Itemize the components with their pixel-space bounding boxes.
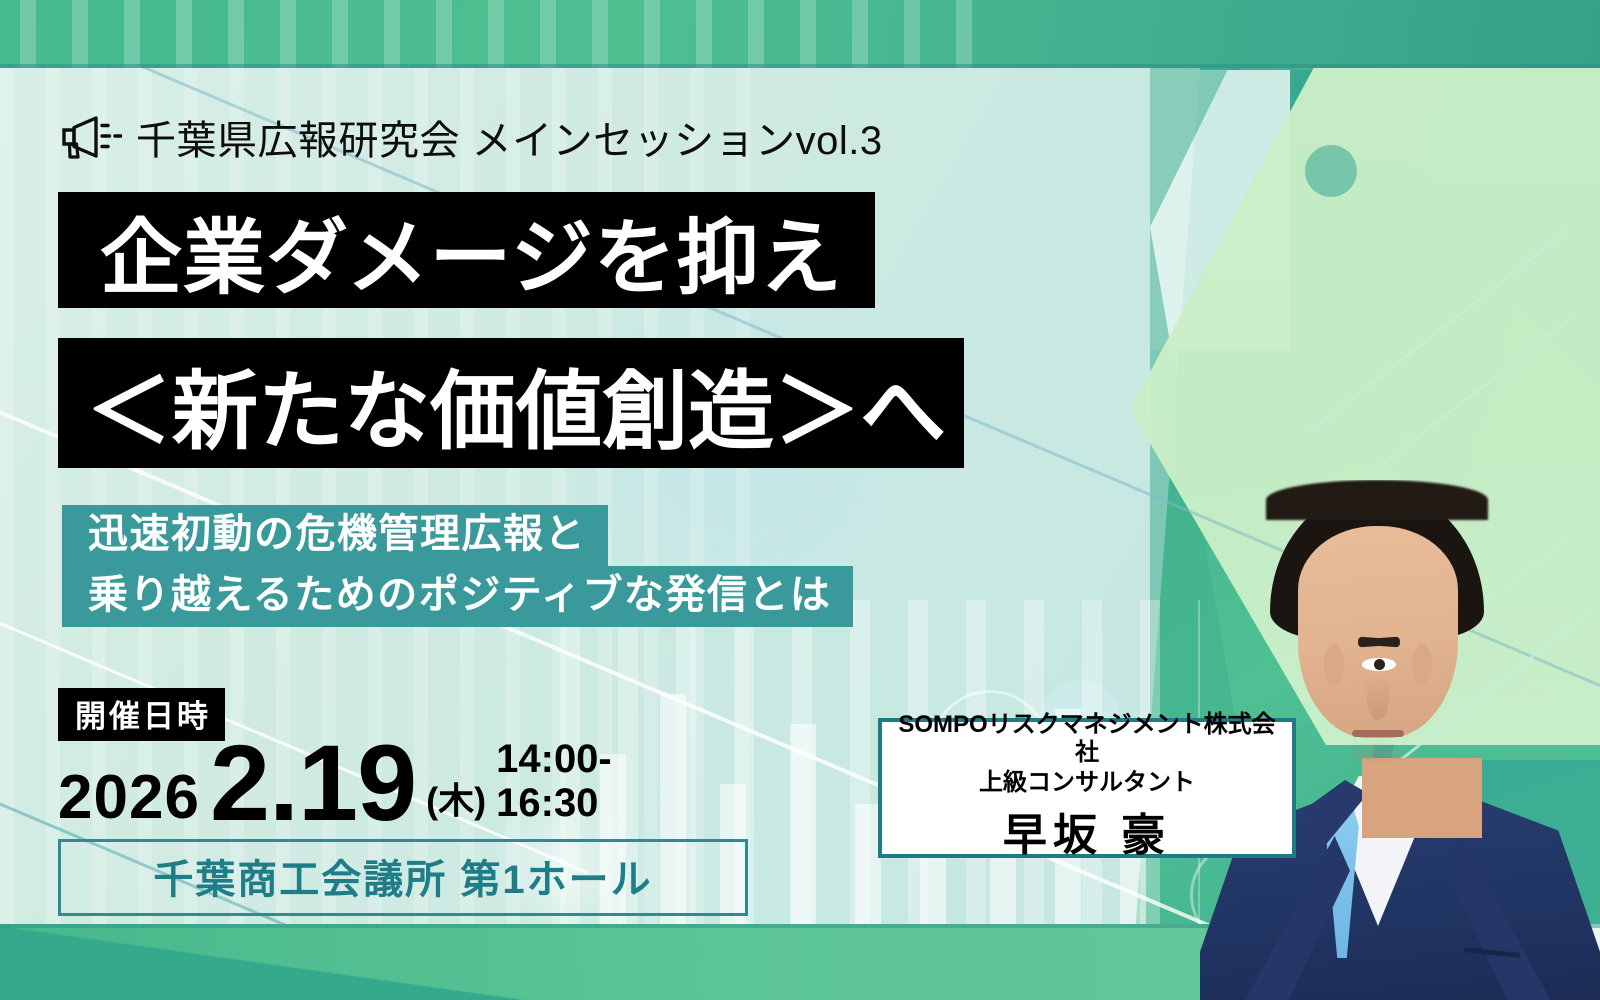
- schedule-time-end: 16:30: [496, 781, 598, 825]
- event-series-text: 千葉県広報研究会 メインセッションvol.3: [136, 108, 883, 166]
- speaker-role: 上級コンサルタント: [979, 768, 1195, 797]
- schedule-year: 2026: [58, 767, 200, 829]
- schedule-block: 開催日時 2026 2.19 (木) 14:00- 16:30 千葉商工会議所 …: [58, 688, 748, 916]
- schedule-day-of-week: (木): [426, 783, 486, 829]
- schedule-time: 14:00- 16:30: [496, 738, 612, 828]
- subtitle-line-2: 乗り越えるためのポジティブな発信とは: [62, 566, 853, 627]
- subtitle-block: 迅速初動の危機管理広報と 乗り越えるためのポジティブな発信とは: [62, 505, 853, 627]
- schedule-time-start: 14:00-: [496, 737, 612, 781]
- megaphone-icon: [60, 114, 122, 160]
- speaker-organization: SOMPOリスクマネジメント株式会社: [890, 711, 1284, 768]
- seminar-banner: 千葉県広報研究会 メインセッションvol.3 企業ダメージを抑え ＜新たな価値創…: [0, 0, 1600, 1000]
- speaker-card: SOMPOリスクマネジメント株式会社 上級コンサルタント 早坂 豪: [878, 718, 1296, 858]
- schedule-day: 2.19: [210, 737, 416, 829]
- schedule-badge: 開催日時: [58, 688, 225, 741]
- title-line-2: ＜新たな価値創造＞へ: [58, 338, 964, 468]
- event-series-label: 千葉県広報研究会 メインセッションvol.3: [60, 108, 883, 166]
- speaker-name: 早坂 豪: [1003, 799, 1171, 863]
- subtitle-line-1: 迅速初動の危機管理広報と: [62, 505, 608, 566]
- schedule-venue: 千葉商工会議所 第1ホール: [58, 839, 748, 916]
- banner-content: 千葉県広報研究会 メインセッションvol.3 企業ダメージを抑え ＜新たな価値創…: [0, 0, 1600, 1000]
- title-line-1: 企業ダメージを抑え: [58, 192, 875, 308]
- schedule-date-row: 2026 2.19 (木) 14:00- 16:30: [58, 737, 748, 829]
